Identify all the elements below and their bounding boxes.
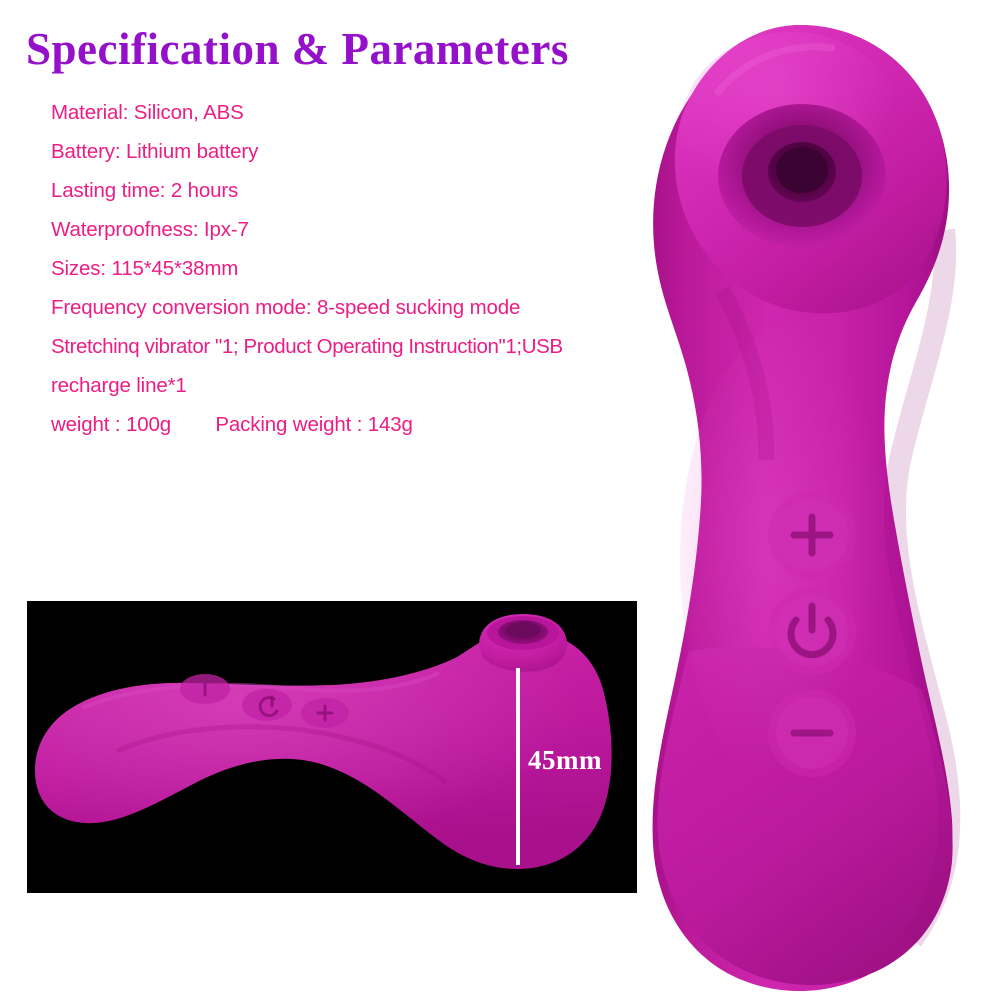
minus-button[interactable] [768,689,856,777]
product-spec-page: Specification & Parameters Material: Sil… [0,0,1000,1000]
spec-line-package-contents: Stretchinq vibrator "1; Product Operatin… [51,327,651,366]
spec-line-waterproofness: Waterproofness: Ipx-7 [51,210,651,249]
spec-line-lasting-time: Lasting time: 2 hours [51,171,651,210]
spec-line-sizes: Sizes: 115*45*38mm [51,249,651,288]
power-button[interactable] [768,587,856,675]
spec-line-weights: weight : 100g Packing weight : 143g [51,405,651,444]
spec-line-battery: Battery: Lithium battery [51,132,651,171]
spec-line-package-contents-cont: recharge line*1 [51,366,651,405]
spec-line-material: Material: Silicon, ABS [51,93,651,132]
specification-list: Material: Silicon, ABS Battery: Lithium … [51,93,651,444]
side-view-minus-button[interactable] [180,674,230,704]
spec-line-frequency-mode: Frequency conversion mode: 8-speed sucki… [51,288,651,327]
side-view-plus-button[interactable] [301,698,349,728]
side-view-power-button[interactable] [242,689,292,721]
main-product-illustration [600,0,1000,1000]
page-title: Specification & Parameters [26,22,666,76]
measurement-label-45mm: 45mm [528,745,602,776]
main-button-group[interactable] [768,491,856,777]
plus-button[interactable] [768,491,856,579]
side-view-suction-head [479,614,567,672]
